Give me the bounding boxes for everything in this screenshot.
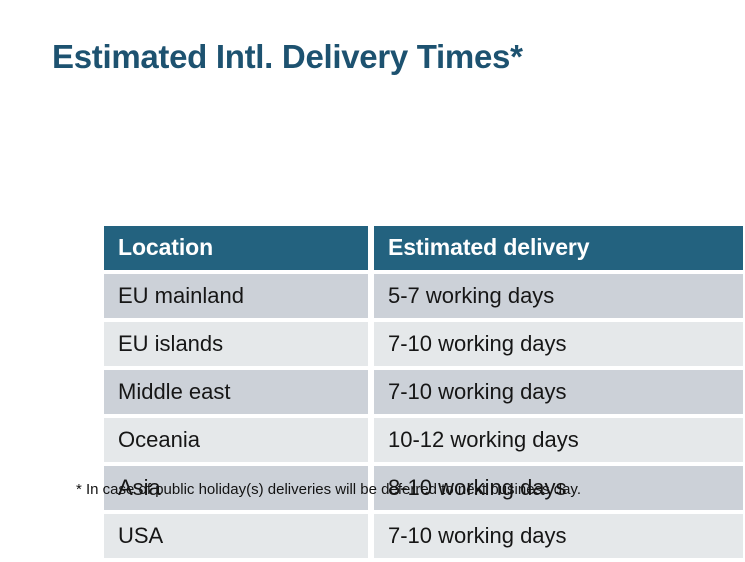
cell-estimated-delivery: 7-10 working days (374, 514, 743, 558)
delivery-times-page: Estimated Intl. Delivery Times* Location… (0, 0, 745, 536)
cell-location: EU islands (104, 322, 368, 366)
table-row: EU islands 7-10 working days (104, 322, 743, 366)
cell-location: Oceania (104, 418, 368, 462)
cell-location: USA (104, 514, 368, 558)
cell-estimated-delivery: 10-12 working days (374, 418, 743, 462)
footnote-text: * In case of public holiday(s) deliverie… (76, 481, 581, 498)
page-title: Estimated Intl. Delivery Times* (52, 38, 523, 76)
cell-estimated-delivery: 7-10 working days (374, 370, 743, 414)
cell-estimated-delivery: 5-7 working days (374, 274, 743, 318)
table-header-row: Location Estimated delivery (104, 226, 743, 270)
cell-location: EU mainland (104, 274, 368, 318)
table-row: Oceania 10-12 working days (104, 418, 743, 462)
table-header: Location Estimated delivery (104, 226, 743, 270)
estimated-delivery-times-table: Location Estimated delivery EU mainland … (98, 222, 745, 562)
cell-location: Middle east (104, 370, 368, 414)
column-header-estimated-delivery: Estimated delivery (374, 226, 743, 270)
table-row: EU mainland 5-7 working days (104, 274, 743, 318)
column-header-location: Location (104, 226, 368, 270)
table-row: Middle east 7-10 working days (104, 370, 743, 414)
table-body: EU mainland 5-7 working days EU islands … (104, 274, 743, 558)
table-row: USA 7-10 working days (104, 514, 743, 558)
cell-estimated-delivery: 7-10 working days (374, 322, 743, 366)
